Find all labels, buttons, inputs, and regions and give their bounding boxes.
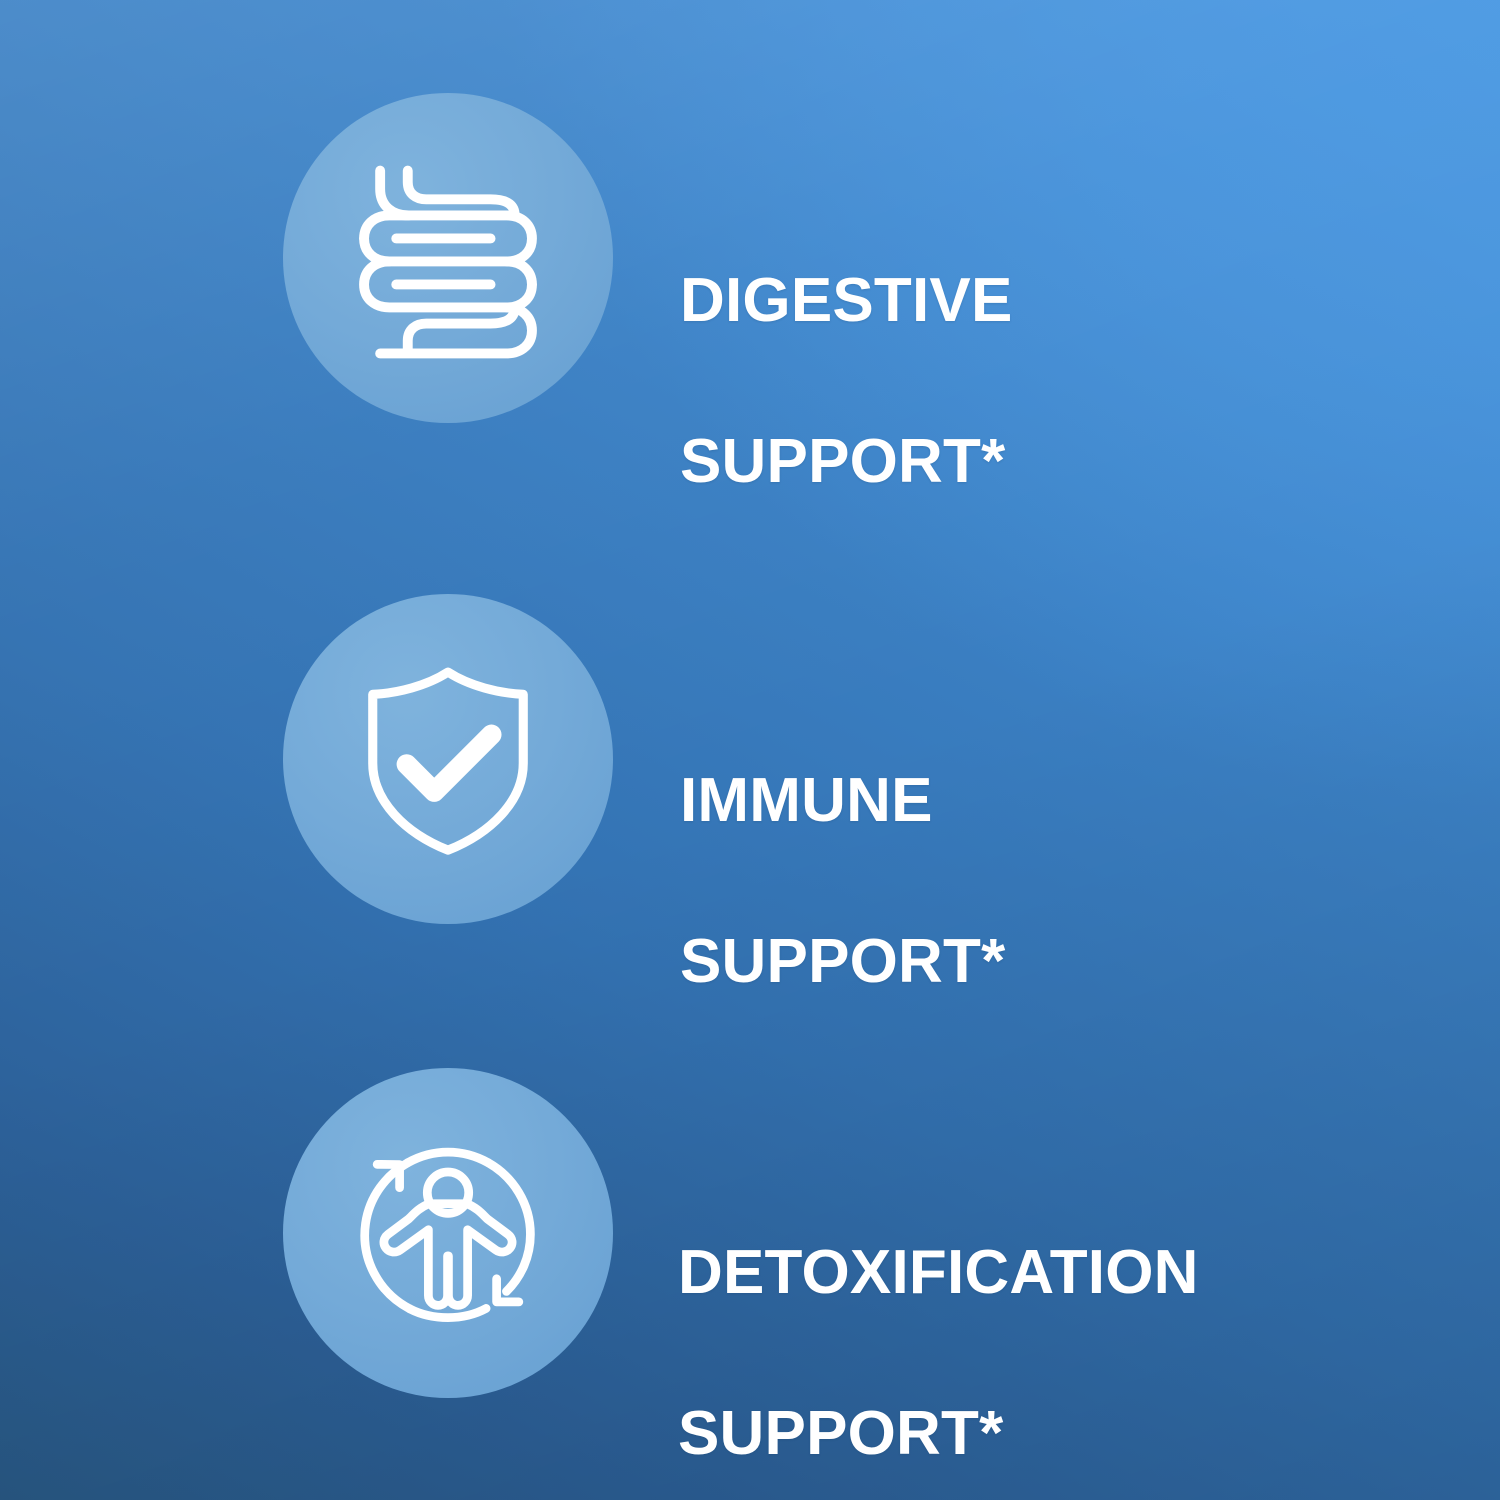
benefit-label-detox: DETOXIFICATION SUPPORT* (678, 1152, 1199, 1500)
benefit-label-line2: SUPPORT* (678, 1394, 1199, 1475)
intestine-icon (333, 143, 563, 373)
shield-check-icon (342, 653, 554, 865)
benefit-label-line1: DETOXIFICATION (678, 1233, 1199, 1314)
benefit-label-line1: DIGESTIVE (680, 261, 1013, 342)
benefit-badge-detox (283, 1068, 613, 1398)
benefit-badge-digestive (283, 93, 613, 423)
person-refresh-icon (339, 1124, 557, 1342)
benefit-label-line2: SUPPORT* (680, 422, 1013, 503)
benefit-label-line2: SUPPORT* (680, 922, 1005, 1003)
benefit-label-digestive: DIGESTIVE SUPPORT* (680, 180, 1013, 583)
benefit-badge-immune (283, 594, 613, 924)
benefit-label-immune: IMMUNE SUPPORT* (680, 680, 1005, 1083)
benefit-label-line1: IMMUNE (680, 761, 1005, 842)
benefits-panel: DIGESTIVE SUPPORT* IMMUNE SUPPORT* (0, 0, 1500, 1500)
